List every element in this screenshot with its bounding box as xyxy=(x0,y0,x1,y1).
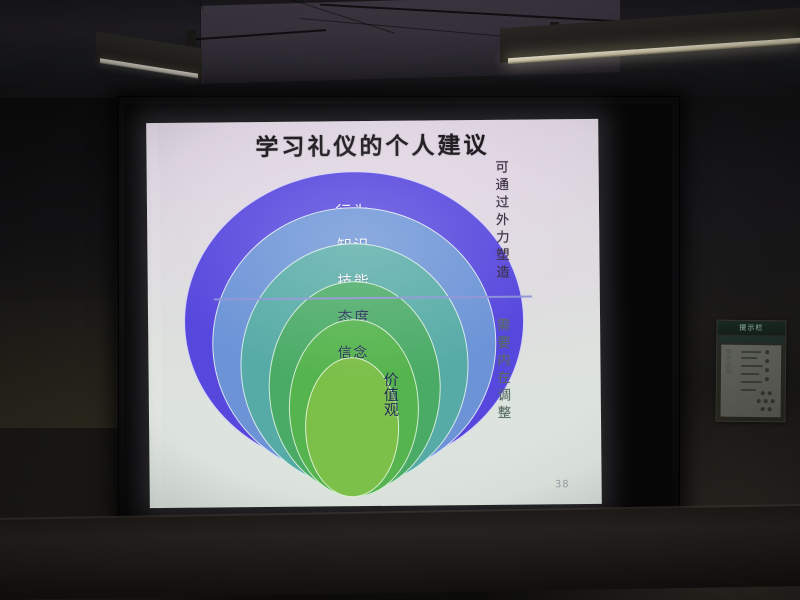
bulletin-bullet-dot xyxy=(757,399,761,403)
bulletin-bullet-dot xyxy=(771,399,775,403)
bulletin-bullet-dot xyxy=(761,407,765,411)
projected-slide: 学习礼仪的个人建议 行为 知识 技能 态度 信念 价值观 可通过外力 xyxy=(146,119,602,508)
bulletin-board-vertical-text: 使用说明 xyxy=(723,349,732,375)
bulletin-text-line xyxy=(741,365,763,367)
ceiling-slab xyxy=(0,0,800,98)
bulletin-bullet-dot xyxy=(768,391,772,395)
bulletin-text-line xyxy=(741,351,761,353)
wall-bulletin-board: 提示栏 使用说明 xyxy=(715,320,786,423)
ring-values: 价值观 xyxy=(304,357,399,498)
front-desk xyxy=(0,506,800,600)
bulletin-bullet-dot xyxy=(761,391,765,395)
bulletin-bullet-dot xyxy=(764,399,768,403)
classroom-scene: 学习礼仪的个人建议 行为 知识 技能 态度 信念 价值观 可通过外力 xyxy=(0,0,800,600)
slide-page-number: 38 xyxy=(555,479,570,490)
bulletin-text-line xyxy=(741,381,762,383)
bulletin-bullet-dot xyxy=(765,359,769,363)
caption-internal-adjustment: 需要内在调整 xyxy=(494,318,509,423)
bulletin-bullet-dot xyxy=(765,350,769,354)
bulletin-text-line xyxy=(741,373,759,375)
ring-label-values: 价值观 xyxy=(306,372,398,418)
bulletin-bullet-dot xyxy=(765,377,769,381)
concentric-rings-diagram: 行为 知识 技能 态度 信念 价值观 xyxy=(183,170,526,473)
bulletin-text-line xyxy=(741,357,757,359)
bulletin-board-title: 提示栏 xyxy=(739,323,763,333)
slide-title: 学习礼仪的个人建议 xyxy=(146,133,598,160)
bulletin-text-line xyxy=(741,389,756,391)
bulletin-board-header: 提示栏 xyxy=(717,321,785,336)
bulletin-bullet-dot xyxy=(765,368,769,372)
bulletin-bullet-dot xyxy=(768,407,772,411)
caption-external-shaping: 可通过外力塑造 xyxy=(493,160,508,283)
slide-edge-band xyxy=(151,169,163,508)
bulletin-board-subbar xyxy=(719,336,783,344)
